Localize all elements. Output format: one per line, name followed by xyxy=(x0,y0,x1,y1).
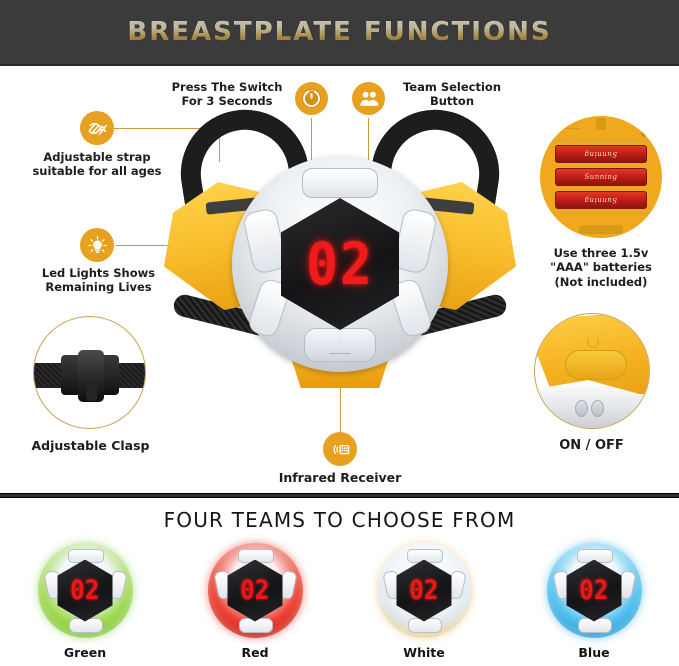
header-banner: BREASTPLATE FUNCTIONS xyxy=(0,0,679,66)
team-disc-blue: 02 xyxy=(547,543,642,638)
battery-2: Sunning xyxy=(555,168,648,186)
team-display-value: 02 xyxy=(409,575,438,606)
team-led-display: 02 xyxy=(397,560,452,622)
battery-brand-2: Sunning xyxy=(584,173,617,181)
infrared-callout-label: Infrared Receiver xyxy=(256,470,424,486)
infrared-receiver-icon xyxy=(323,432,357,466)
team-led-display: 02 xyxy=(58,560,113,622)
onoff-callout-label: ON / OFF xyxy=(519,438,664,454)
indicator-dot-1 xyxy=(575,400,588,417)
team-display-value: 02 xyxy=(70,575,99,606)
led-callout-label: Led Lights Shows Remaining Lives xyxy=(26,266,171,295)
battery-compartment-photo: Sunning Sunning Sunning xyxy=(540,116,662,238)
core-display-unit: 02 xyxy=(232,156,448,372)
strap-icon xyxy=(80,111,114,145)
buckle-photo xyxy=(33,316,146,429)
battery-3: Sunning xyxy=(555,191,648,209)
segment-top xyxy=(302,168,378,198)
team-label-green: Green xyxy=(5,645,165,660)
team-disc-green: 02 xyxy=(38,543,133,638)
team-option-green[interactable]: 02 Green xyxy=(5,543,165,660)
battery-callout-label: Use three 1.5v "AAA" batteries (Not incl… xyxy=(527,246,675,289)
teams-section: FOUR TEAMS TO CHOOSE FROM 02 Green 02 xyxy=(0,498,679,666)
battery-brand-3: Sunning xyxy=(584,196,617,204)
team-label-white: White xyxy=(344,645,504,660)
strap-callout-label: Adjustable strap suitable for all ages xyxy=(22,150,172,179)
team-option-white[interactable]: 02 White xyxy=(344,543,504,660)
lightbulb-icon xyxy=(80,228,114,262)
teams-section-title: FOUR TEAMS TO CHOOSE FROM xyxy=(0,508,679,532)
team-led-display: 02 xyxy=(567,560,622,622)
page-title: BREASTPLATE FUNCTIONS xyxy=(127,17,551,47)
lives-counter-value: 02 xyxy=(306,230,374,298)
team-display-value: 02 xyxy=(240,575,269,606)
team-label-blue: Blue xyxy=(514,645,674,660)
team-option-red[interactable]: 02 Red xyxy=(175,543,335,660)
team-label-red: Red xyxy=(175,645,335,660)
team-option-blue[interactable]: 02 Blue xyxy=(514,543,674,660)
team-disc-red: 02 xyxy=(208,543,303,638)
indicator-dot-2 xyxy=(591,400,604,417)
battery-brand: Sunning xyxy=(584,150,617,158)
main-illustration-area: Press The Switch For 3 Seconds Team Sele… xyxy=(0,66,679,493)
team-disc-white: 02 xyxy=(377,543,472,638)
on-off-switch-photo xyxy=(534,313,650,429)
clasp-callout-label: Adjustable Clasp xyxy=(18,438,163,454)
team-led-display: 02 xyxy=(228,560,283,622)
power-slider-button[interactable] xyxy=(565,350,627,380)
team-display-value: 02 xyxy=(579,575,608,606)
infographic-page: BREASTPLATE FUNCTIONS Press The xyxy=(0,0,679,666)
breastplate-device: 02 xyxy=(160,104,520,424)
battery-1: Sunning xyxy=(555,145,648,163)
